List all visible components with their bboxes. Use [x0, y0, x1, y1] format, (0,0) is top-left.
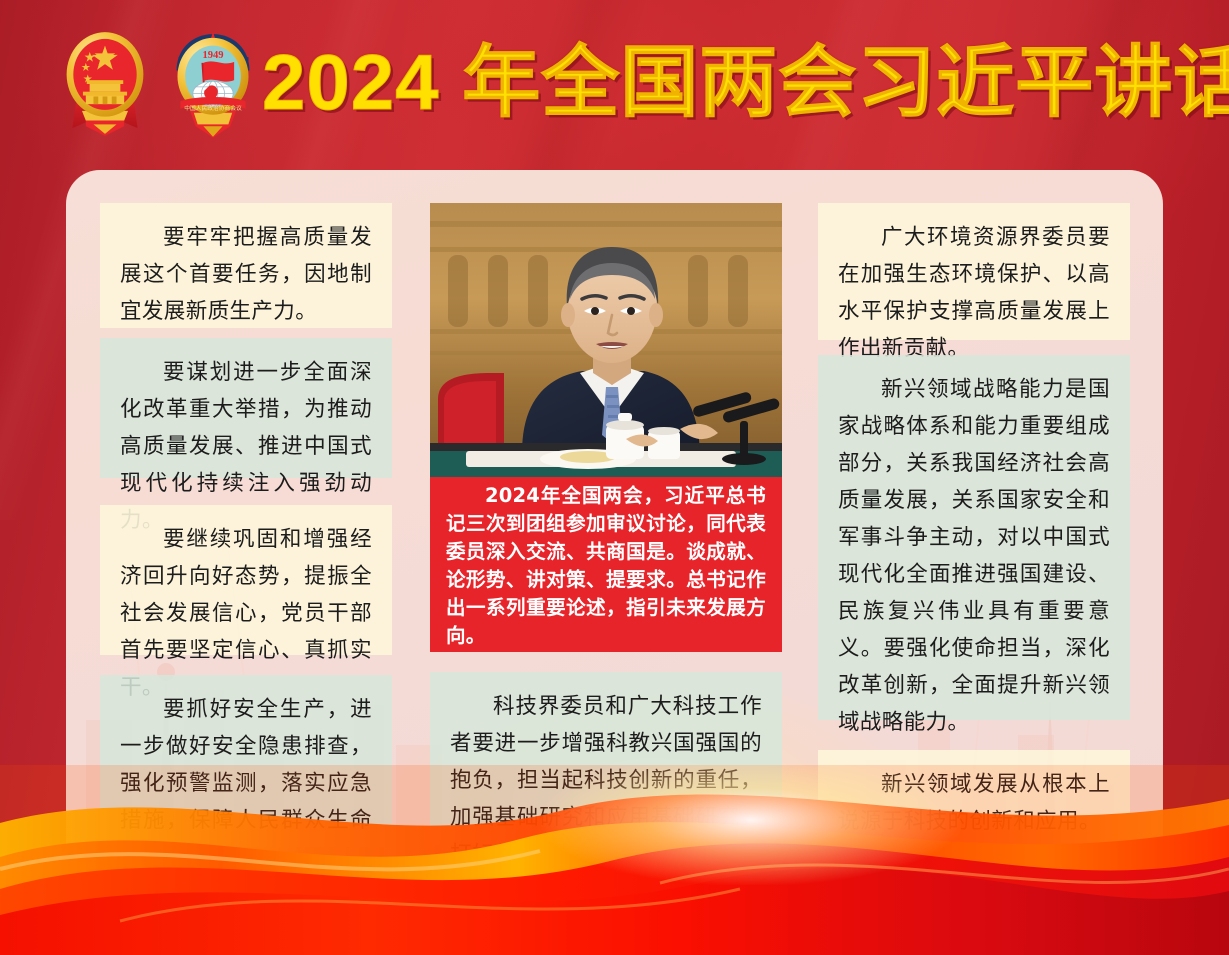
bottom-silk-ribbon: [0, 765, 1229, 955]
quote-card-left-1: 要牢牢把握高质量发展这个首要任务，因地制宜发展新质生产力。: [100, 203, 392, 328]
quote-columns: 要牢牢把握高质量发展这个首要任务，因地制宜发展新质生产力。 要谋划进一步全面深化…: [66, 170, 1163, 860]
quote-text: 广大环境资源界委员要在加强生态环境保护、以高水平保护支撑高质量发展上作出新贡献。: [838, 219, 1110, 367]
photo-caption-text: 2024年全国两会，习近平总书记三次到团组参加审议讨论，同代表委员深入交流、共商…: [446, 482, 766, 650]
right-column: 广大环境资源界委员要在加强生态环境保护、以高水平保护支撑高质量发展上作出新贡献。…: [818, 170, 1130, 860]
page-title: 2024 年全国两会习近平讲话金句: [262, 26, 1229, 138]
photo-illustration: [430, 203, 782, 477]
cppcc-name-label: 中国人民政治协商会议: [184, 104, 242, 112]
content-panel: 要牢牢把握高质量发展这个首要任务，因地制宜发展新质生产力。 要谋划进一步全面深化…: [66, 170, 1163, 860]
emblem-group: 1949 中国人民政治协商会议: [57, 28, 261, 140]
quote-card-right-1: 广大环境资源界委员要在加强生态环境保护、以高水平保护支撑高质量发展上作出新贡献。: [818, 203, 1130, 340]
quote-card-left-3: 要继续巩固和增强经济回升向好态势，提振全社会发展信心，党员干部首先要坚定信心、真…: [100, 505, 392, 655]
poster-header: 1949 中国人民政治协商会议 2024 年全国两会习近平讲话金句: [0, 0, 1229, 170]
left-column: 要牢牢把握高质量发展这个首要任务，因地制宜发展新质生产力。 要谋划进一步全面深化…: [100, 170, 392, 860]
quote-card-right-2: 新兴领域战略能力是国家战略体系和能力重要组成部分，关系我国经济社会高质量发展，关…: [818, 355, 1130, 720]
middle-column: 2024年全国两会，习近平总书记三次到团组参加审议讨论，同代表委员深入交流、共商…: [430, 170, 782, 860]
quote-text: 要牢牢把握高质量发展这个首要任务，因地制宜发展新质生产力。: [120, 219, 372, 330]
xi-jinping-meeting-photo: [430, 203, 782, 477]
photo-caption-box: 2024年全国两会，习近平总书记三次到团组参加审议讨论，同代表委员深入交流、共商…: [430, 477, 782, 652]
quote-card-left-2: 要谋划进一步全面深化改革重大举措，为推动高质量发展、推进中国式现代化持续注入强劲…: [100, 338, 392, 478]
cppcc-emblem-icon: 1949 中国人民政治协商会议: [165, 28, 261, 140]
ribbon-center-glow: [541, 765, 961, 885]
quote-text: 新兴领域战略能力是国家战略体系和能力重要组成部分，关系我国经济社会高质量发展，关…: [838, 371, 1110, 741]
poster-root: 1949 中国人民政治协商会议 2024 年全国两会习近平讲话金句: [0, 0, 1229, 955]
cppcc-year-label: 1949: [202, 50, 223, 61]
national-emblem-of-china-icon: [57, 28, 153, 140]
